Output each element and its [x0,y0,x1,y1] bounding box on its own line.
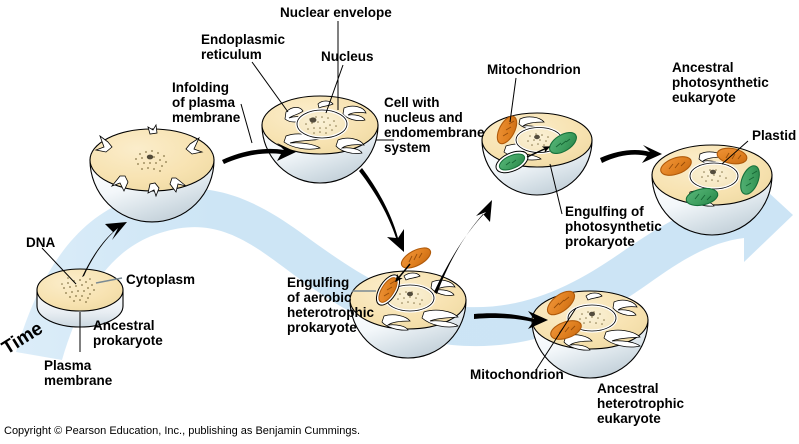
label-ancestral-prokaryote: Ancestral prokaryote [93,318,163,348]
arrow-nucleated-to-engulfing [359,168,404,252]
leader-endoplasmic-reticulum [252,62,288,112]
copyright-notice: Copyright © Pearson Education, Inc., pub… [4,425,360,437]
label-ancestral-heterotrophic-eukaryote: Ancestral heterotrophic eukaryote [597,381,684,426]
label-nuclear-envelope: Nuclear envelope [280,5,392,20]
label-endoplasmic-reticulum: Endoplasmic reticulum [201,32,285,62]
leader-cytoplasm [96,278,122,283]
label-cell-with-nucleus: Cell with nucleus and endomembrane syste… [384,95,485,155]
leader-mitochondrion-bottom [536,308,576,370]
label-plastid: Plastid [752,128,796,143]
label-mitochondrion-bottom: Mitochondrion [470,367,564,382]
label-nucleus: Nucleus [321,49,374,64]
arrow-photosynthetic-to-ancestral [600,145,662,163]
diagram-canvas: Nuclear envelope Endoplasmic reticulum N… [0,0,799,444]
label-plasma-membrane: Plasma membrane [44,358,112,388]
arrow-heterotrophic-to-photosynthetic [434,200,492,294]
leader-nucleus [326,65,343,113]
label-engulfing-aerobic-heterotrophic-prokaryote: Engulfing of aerobic heterotrophic proka… [287,275,374,335]
arrow-infolding-to-nucleated [222,143,296,164]
label-dna: DNA [26,235,55,250]
leader-mitochondrion-top [510,78,516,122]
leader-engulfing-photosynthetic [550,164,562,214]
label-ancestral-photosynthetic-eukaryote: Ancestral photosynthetic eukaryote [672,60,769,105]
arrow-engulfing-to-heterotrophic [474,311,548,329]
label-infolding-of-plasma-membrane: Infolding of plasma membrane [172,80,240,125]
leader-dna [42,248,76,284]
label-mitochondrion-top: Mitochondrion [487,62,581,77]
label-cytoplasm: Cytoplasm [126,272,195,287]
arrow-prokaryote-to-infolding [82,222,127,277]
leader-plastid [722,141,748,164]
leader-infolding [241,104,252,143]
label-engulfing-photosynthetic-prokaryote: Engulfing of photosynthetic prokaryote [565,204,662,249]
